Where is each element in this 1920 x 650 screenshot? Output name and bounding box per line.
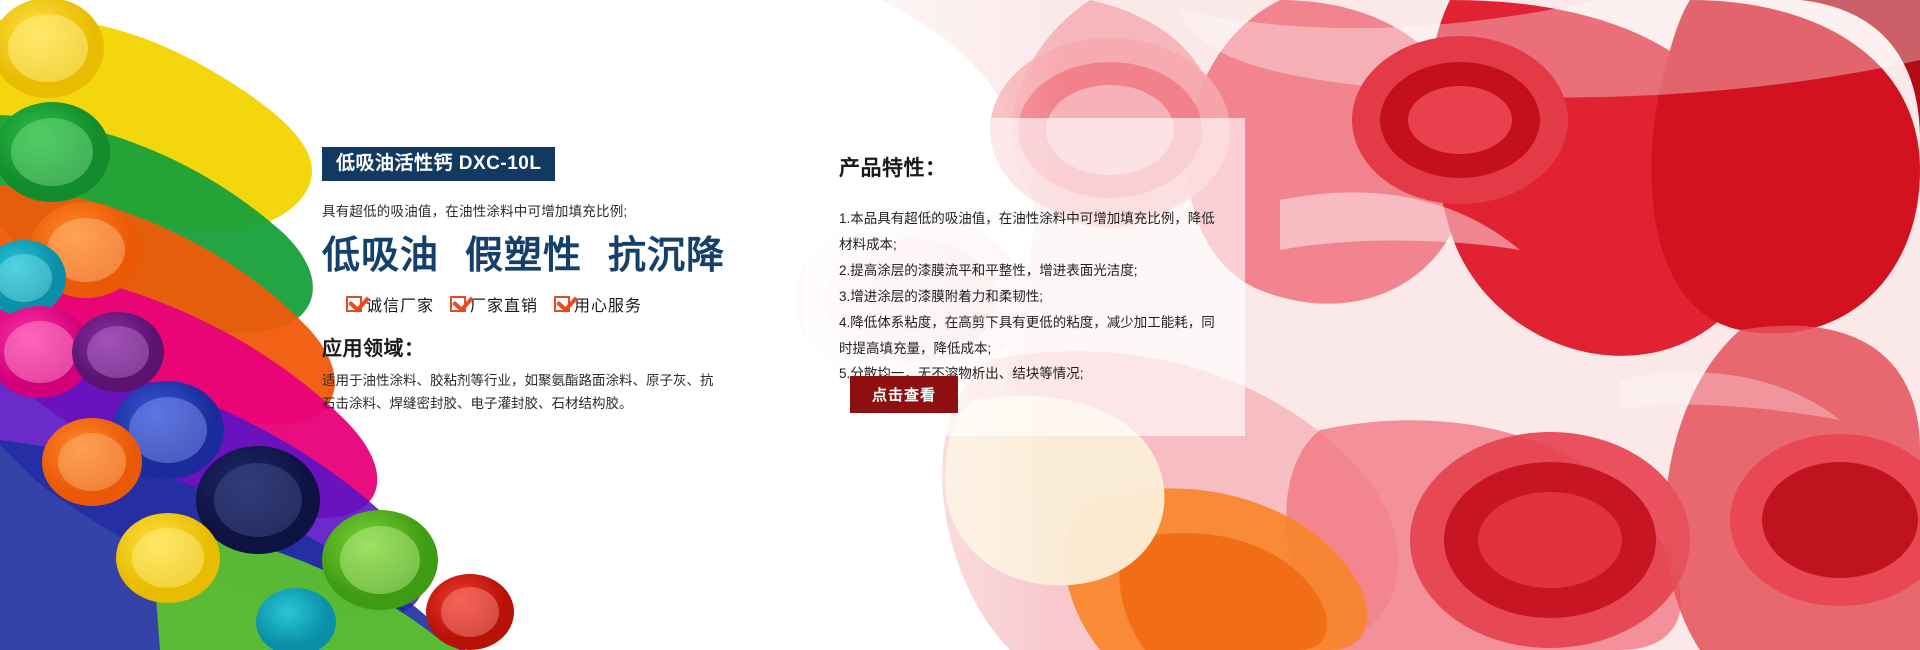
left-content-column: 低吸油活性钙 DXC-10L 具有超低的吸油值，在油性涂料中可增加填充比例; 低… <box>322 147 722 416</box>
trust-badge-3: 用心服务 <box>554 292 642 316</box>
product-features-panel-inner: 产品特性： 1.本品具有超低的吸油值，在油性涂料中可增加填充比例，降低材料成本;… <box>805 118 1245 387</box>
promo-banner: 低吸油活性钙 DXC-10L 具有超低的吸油值，在油性涂料中可增加填充比例; 低… <box>0 0 1920 650</box>
trust-badge-list: 诚信厂家 厂家直销 用心服务 <box>346 292 722 316</box>
product-features-panel: 产品特性： 1.本品具有超低的吸油值，在油性涂料中可增加填充比例，降低材料成本;… <box>805 118 1245 436</box>
product-title-bar: 低吸油活性钙 DXC-10L <box>322 147 555 181</box>
checkbox-checked-icon <box>346 296 362 312</box>
headline-word-2: 假塑性 <box>465 235 582 277</box>
feature-item-3: 3.增进涂层的漆膜附着力和柔韧性; <box>839 284 1215 310</box>
feature-item-2: 2.提高涂层的漆膜流平和平整性，增进表面光洁度; <box>839 258 1215 284</box>
trust-badge-label: 诚信厂家 <box>366 292 434 316</box>
application-section-title: 应用领域： <box>322 332 722 361</box>
trust-badge-label: 厂家直销 <box>470 292 538 316</box>
trust-badge-2: 厂家直销 <box>450 292 538 316</box>
application-section-body: 适用于油性涂料、胶粘剂等行业，如聚氨酯路面涂料、原子灰、抗石击涂料、焊缝密封胶、… <box>322 369 722 416</box>
features-list: 1.本品具有超低的吸油值，在油性涂料中可增加填充比例，降低材料成本; 2.提高涂… <box>839 206 1215 387</box>
feature-headline: 低吸油假塑性抗沉降 <box>322 236 722 278</box>
headline-word-1: 低吸油 <box>322 235 439 277</box>
product-subtitle: 具有超低的吸油值，在油性涂料中可增加填充比例; <box>322 203 722 222</box>
feature-item-1: 1.本品具有超低的吸油值，在油性涂料中可增加填充比例，降低材料成本; <box>839 206 1215 258</box>
feature-item-4: 4.降低体系粘度，在高剪下具有更低的粘度，减少加工能耗，同时提高填充量，降低成本… <box>839 310 1215 362</box>
features-panel-title: 产品特性： <box>839 152 1215 182</box>
view-details-button[interactable]: 点击查看 <box>850 376 958 413</box>
checkbox-checked-icon <box>450 296 466 312</box>
headline-word-3: 抗沉降 <box>608 235 725 277</box>
checkbox-checked-icon <box>554 296 570 312</box>
trust-badge-label: 用心服务 <box>574 292 642 316</box>
trust-badge-1: 诚信厂家 <box>346 292 434 316</box>
